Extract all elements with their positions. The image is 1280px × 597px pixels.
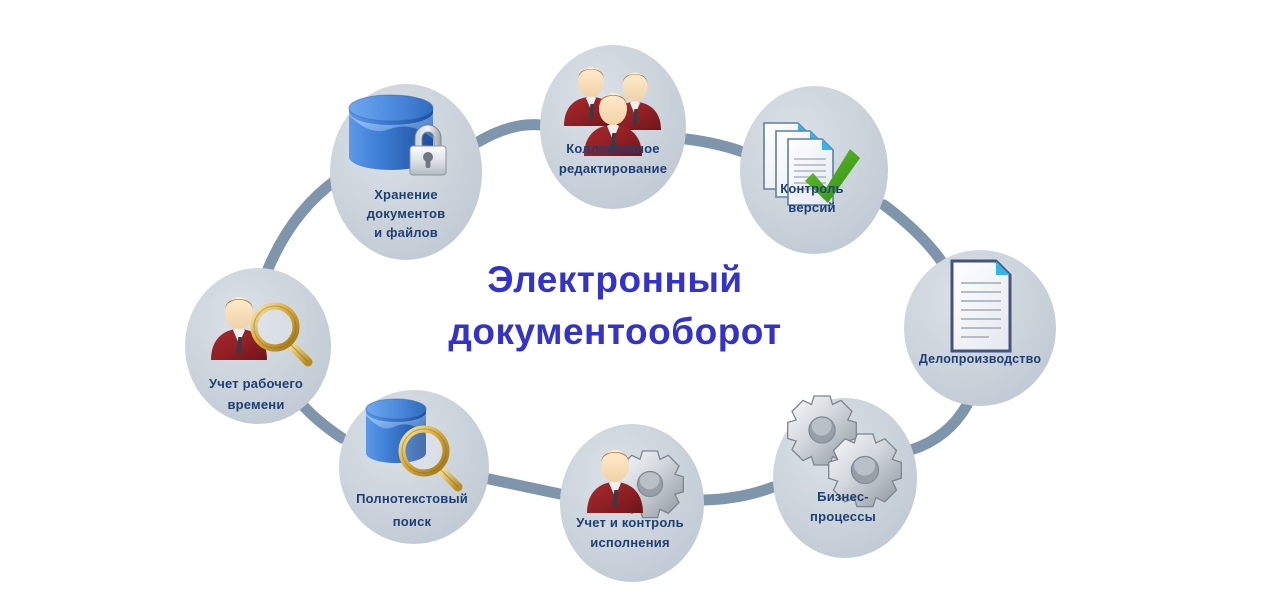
node-storage[interactable]: Хранение документов и файлов bbox=[330, 84, 482, 260]
node-collaborative-editing-label-line-2: редактирование bbox=[559, 161, 667, 176]
node-business-processes-label-line-1: Бизнес- bbox=[817, 489, 869, 504]
center-title: Электронный документооборот bbox=[448, 259, 781, 352]
node-version-control-label-line-2: версий bbox=[788, 200, 835, 215]
node-business-processes[interactable]: Бизнес- процессы bbox=[773, 396, 917, 558]
connector-business-to-execution bbox=[704, 487, 773, 500]
node-collaborative-editing-label-line-1: Коллективное bbox=[566, 141, 659, 156]
node-time-tracking-label-line-2: времени bbox=[227, 397, 284, 412]
document-page-icon bbox=[952, 261, 1010, 351]
node-execution-control-label-line-2: исполнения bbox=[590, 535, 669, 550]
node-version-control-label-line-1: Контроль bbox=[780, 181, 844, 196]
node-storage-label-line-3: и файлов bbox=[374, 225, 438, 240]
node-fulltext-search-label-line-1: Полнотекстовый bbox=[356, 491, 468, 506]
node-execution-control-label-line-1: Учет и контроль bbox=[576, 515, 684, 530]
node-fulltext-search-label-line-2: поиск bbox=[393, 514, 432, 529]
electronic-document-flow-diagram: Хранение документов и файлов bbox=[0, 0, 1280, 597]
connector-records-to-business bbox=[911, 405, 967, 450]
node-records-management-label-line-1: Делопроизводство bbox=[919, 352, 1041, 366]
node-time-tracking-label-line-1: Учет рабочего bbox=[209, 376, 303, 391]
database-lock-icon bbox=[349, 95, 446, 175]
connector-time-to-storage bbox=[268, 180, 336, 269]
node-collaborative-editing[interactable]: Коллективное редактирование bbox=[540, 45, 686, 209]
node-fulltext-search[interactable]: Полнотекстовый поиск bbox=[339, 390, 489, 544]
connector-version-to-records bbox=[884, 205, 944, 265]
center-title-line-2: документооборот bbox=[448, 311, 781, 352]
node-storage-label-line-2: документов bbox=[367, 206, 446, 221]
node-version-control[interactable]: Контроль версий bbox=[740, 86, 888, 254]
node-storage-label-line-1: Хранение bbox=[374, 187, 438, 202]
center-title-line-1: Электронный bbox=[487, 259, 742, 300]
node-time-tracking[interactable]: Учет рабочего времени bbox=[185, 268, 331, 424]
connector-storage-to-collab bbox=[478, 125, 541, 142]
node-records-management[interactable]: Делопроизводство bbox=[904, 250, 1056, 406]
node-business-processes-label-line-2: процессы bbox=[810, 509, 876, 524]
diagram-canvas: Хранение документов и файлов bbox=[0, 0, 1280, 597]
connector-collab-to-version bbox=[686, 139, 743, 152]
node-execution-control[interactable]: Учет и контроль исполнения bbox=[560, 424, 704, 582]
connector-execution-to-search bbox=[489, 479, 560, 494]
connector-search-to-time bbox=[300, 402, 342, 438]
